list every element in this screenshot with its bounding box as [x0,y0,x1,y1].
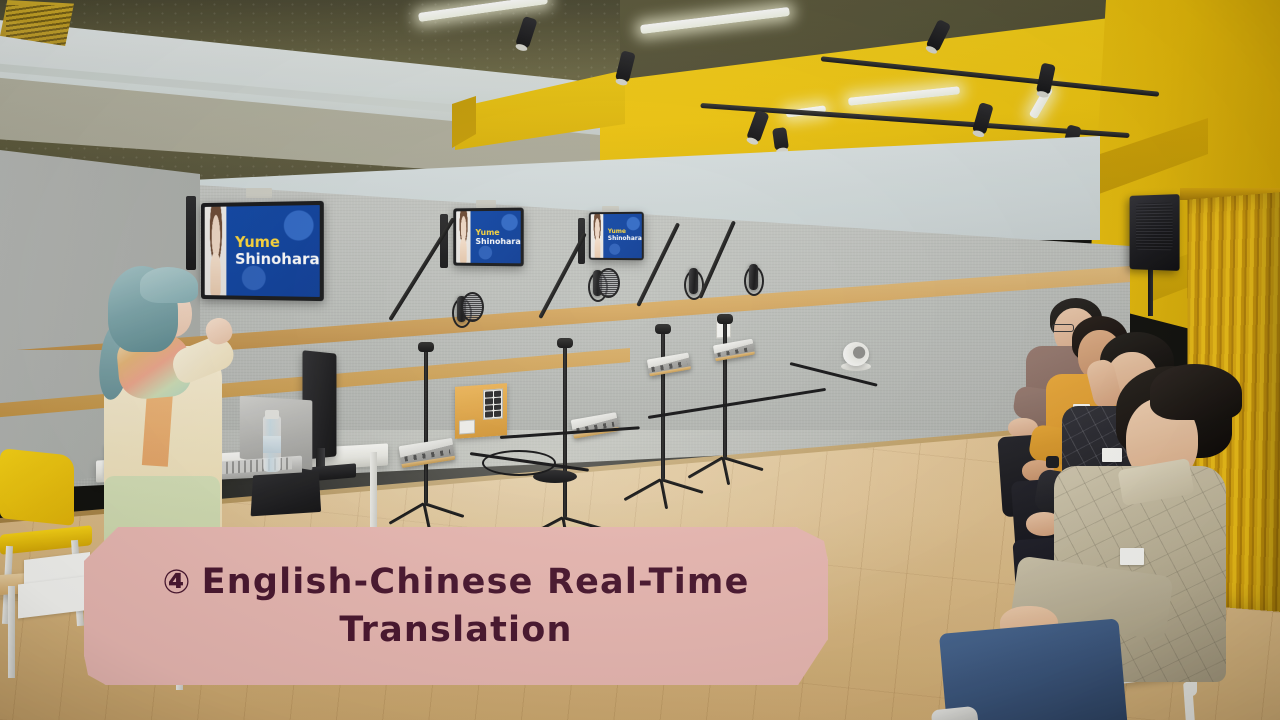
speaker-mount-pole [1148,268,1153,316]
monitor-label-second [476,200,496,208]
water-bottle-label [263,436,281,453]
speaker-portrait-third [591,214,604,258]
monitor-arm-main [186,196,196,270]
xlr-connector-bay [483,388,503,419]
speaker-name-last-third: Shinohara [608,236,642,243]
wall-monitor-third: Yume Shinohara [589,212,644,261]
tablet-device[interactable] [251,471,322,516]
audience-1-glasses-icon [1052,324,1074,332]
monitor-screen-main: Yume Shinohara [205,205,320,297]
water-bottle-cap [265,410,279,419]
presenter-bangs [140,267,198,303]
speaker-name-last-main: Shinohara [235,251,320,269]
yellow-chair-back[interactable] [0,448,74,526]
audience-3-nametag [1102,448,1122,462]
screenshot-stage: Yume Shinohara Yume Shinohara Yume Shino… [0,0,1280,720]
power-outlet-icon [459,419,475,434]
speaker-name-first-second: Yume [476,228,500,237]
wall-monitor-second: Yume Shinohara [453,208,523,267]
pa-speaker [1130,194,1180,271]
side-table-leg-1 [8,586,15,678]
speaker-name-first-main: Yume [235,234,280,251]
speaker-nameplate-main: Yume Shinohara [226,205,320,297]
circulator-fan-icon [843,342,869,366]
speaker-nameplate-third: Yume Shinohara [604,214,642,258]
caption-line-1-text: English-Chinese Real-Time [202,562,750,602]
caption-line-1: ④English-Chinese Real-Time [162,558,749,606]
audience-2-watch-icon [1046,456,1059,468]
speaker-nameplate-second: Yume Shinohara [470,211,520,264]
speaker-portrait-second [456,211,470,263]
wall-monitor-main: Yume Shinohara [201,201,324,301]
monitor-screen-third: Yume Shinohara [591,214,642,258]
wall-patch-panel [455,383,507,439]
caption-line-2: Translation [339,606,572,654]
pop-filter-2 [597,268,620,298]
floor-cable-loop [482,450,556,476]
audience-4-legs [939,618,1129,720]
pop-filter-1 [461,292,484,322]
caption-banner: ④English-Chinese Real-Time Translation [84,527,828,685]
monitor-label-main [246,188,272,198]
audience-4-hair-front [1150,364,1242,420]
monitor-screen-second: Yume Shinohara [456,211,521,264]
spotlight-8 [772,127,789,151]
audience-4-nametag [1120,548,1144,565]
speaker-portrait-main [205,207,226,296]
speaker-name-last-second: Shinohara [476,237,521,246]
caption-number: ④ [162,562,191,601]
